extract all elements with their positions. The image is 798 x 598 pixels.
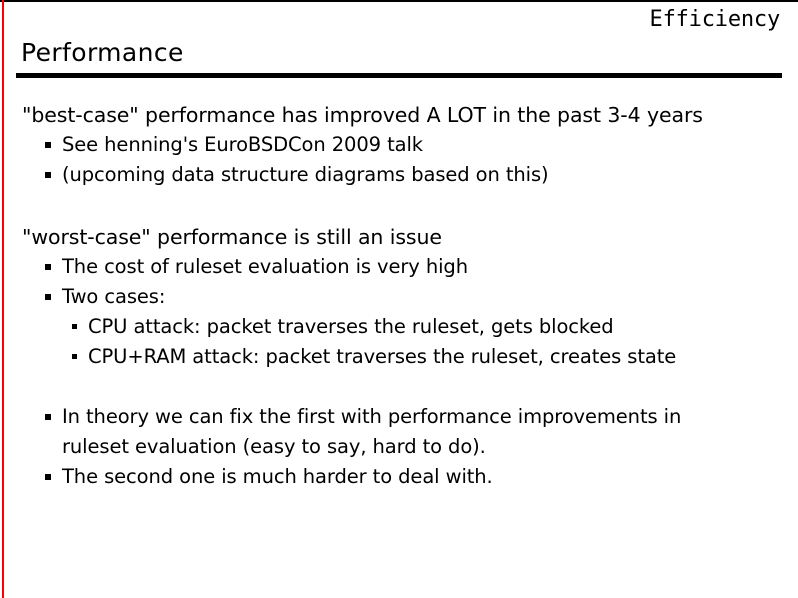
square-bullet-icon <box>45 142 51 148</box>
bullet-text: The cost of ruleset evaluation is very h… <box>62 255 468 278</box>
slide: Efficiency Performance "best-case" perfo… <box>0 0 798 598</box>
bullet-item-level-2: CPU attack: packet traverses the ruleset… <box>72 312 798 342</box>
block-spacer <box>0 190 798 222</box>
square-bullet-icon <box>45 474 51 480</box>
bullet-item-level-1: In theory we can fix the first with perf… <box>45 402 798 432</box>
square-bullet-icon <box>45 264 51 270</box>
body-paragraph: "best-case" performance has improved A L… <box>22 100 798 130</box>
bullet-text: Two cases: <box>62 285 165 308</box>
bullet-text: ruleset evaluation (easy to say, hard to… <box>62 435 486 458</box>
section-kicker: Efficiency <box>650 6 780 34</box>
bullet-item-level-2: CPU+RAM attack: packet traverses the rul… <box>72 342 798 372</box>
slide-body: "best-case" performance has improved A L… <box>0 100 798 492</box>
bullet-item-level-1: Two cases: <box>45 282 798 312</box>
bullet-item-level-1: The second one is much harder to deal wi… <box>45 462 798 492</box>
bullet-item-level-1: See henning's EuroBSDCon 2009 talk <box>45 130 798 160</box>
body-paragraph: "worst-case" performance is still an iss… <box>22 222 798 252</box>
bullet-item-level-1: (upcoming data structure diagrams based … <box>45 160 798 190</box>
bullet-text: The second one is much harder to deal wi… <box>62 465 493 488</box>
bullet-text: See henning's EuroBSDCon 2009 talk <box>62 133 423 156</box>
bullet-text: CPU attack: packet traverses the ruleset… <box>88 315 614 338</box>
slide-header: Efficiency Performance <box>0 0 798 80</box>
square-bullet-icon <box>45 414 51 420</box>
square-bullet-icon <box>45 294 51 300</box>
square-bullet-icon <box>72 354 77 359</box>
bullet-continuation-line: ruleset evaluation (easy to say, hard to… <box>45 432 798 462</box>
square-bullet-icon <box>72 324 77 329</box>
bullet-text: CPU+RAM attack: packet traverses the rul… <box>88 345 676 368</box>
title-underline-rule <box>16 73 782 78</box>
page-title: Performance <box>21 38 184 68</box>
bullet-text: "best-case" performance has improved A L… <box>22 103 703 127</box>
bullet-item-level-1: The cost of ruleset evaluation is very h… <box>45 252 798 282</box>
square-bullet-icon <box>45 172 51 178</box>
bullet-text: "worst-case" performance is still an iss… <box>22 225 442 249</box>
block-spacer <box>0 372 798 402</box>
bullet-text: (upcoming data structure diagrams based … <box>62 163 549 186</box>
bullet-text: In theory we can fix the first with perf… <box>62 405 681 428</box>
